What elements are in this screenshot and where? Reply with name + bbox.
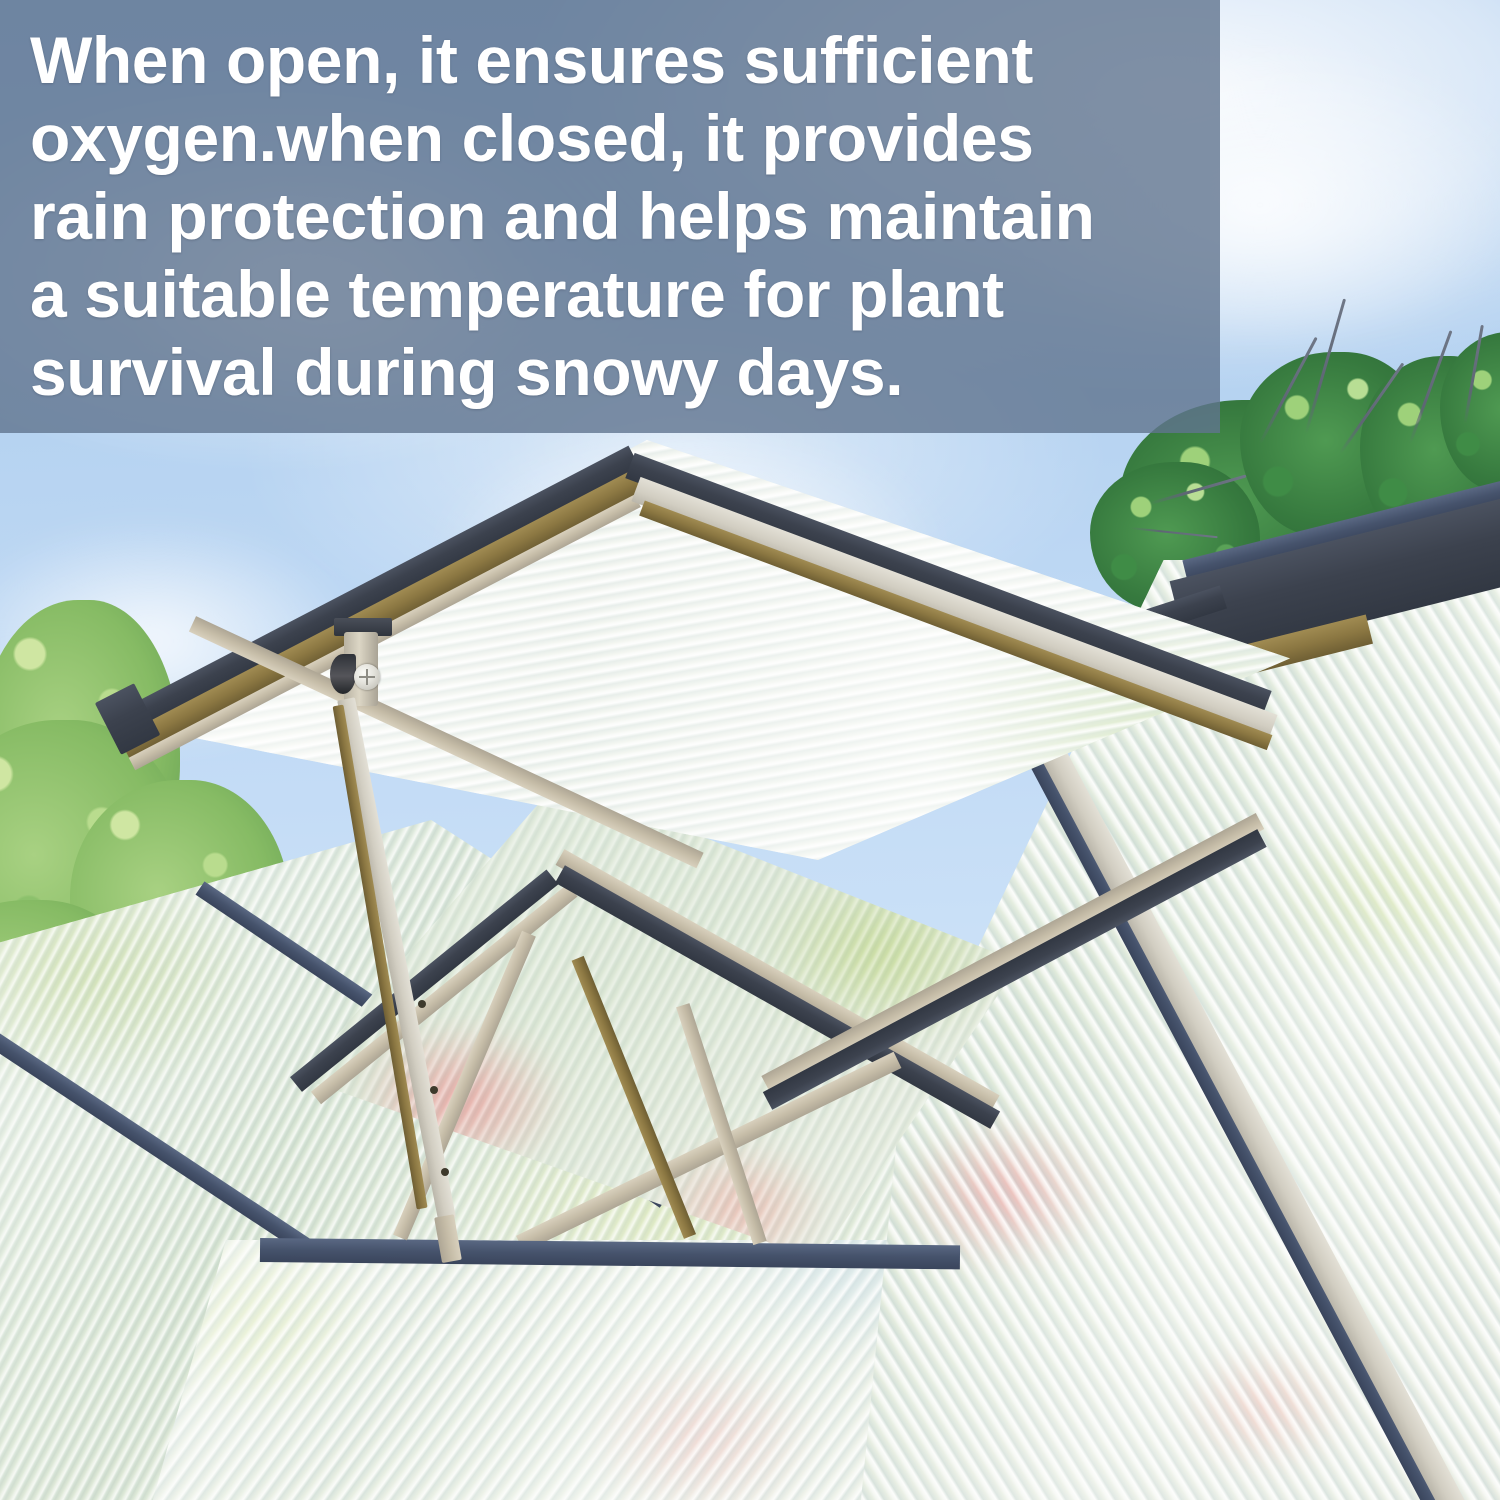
caption-text: When open, it ensures sufficient oxygen.…: [30, 22, 1180, 411]
glass-sheen: [150, 1240, 910, 1500]
stay-adjustment-hole: [441, 1168, 449, 1176]
stay-adjustment-hole: [418, 1000, 426, 1008]
roof-panel-lower-left: [150, 1240, 910, 1500]
stay-adjustment-hole: [430, 1086, 438, 1094]
product-photo-canvas: When open, it ensures sufficient oxygen.…: [0, 0, 1500, 1500]
bracket-screw: [354, 664, 380, 690]
bracket-pivot-shroud: [330, 654, 356, 694]
caption-overlay-panel: When open, it ensures sufficient oxygen.…: [0, 0, 1220, 433]
